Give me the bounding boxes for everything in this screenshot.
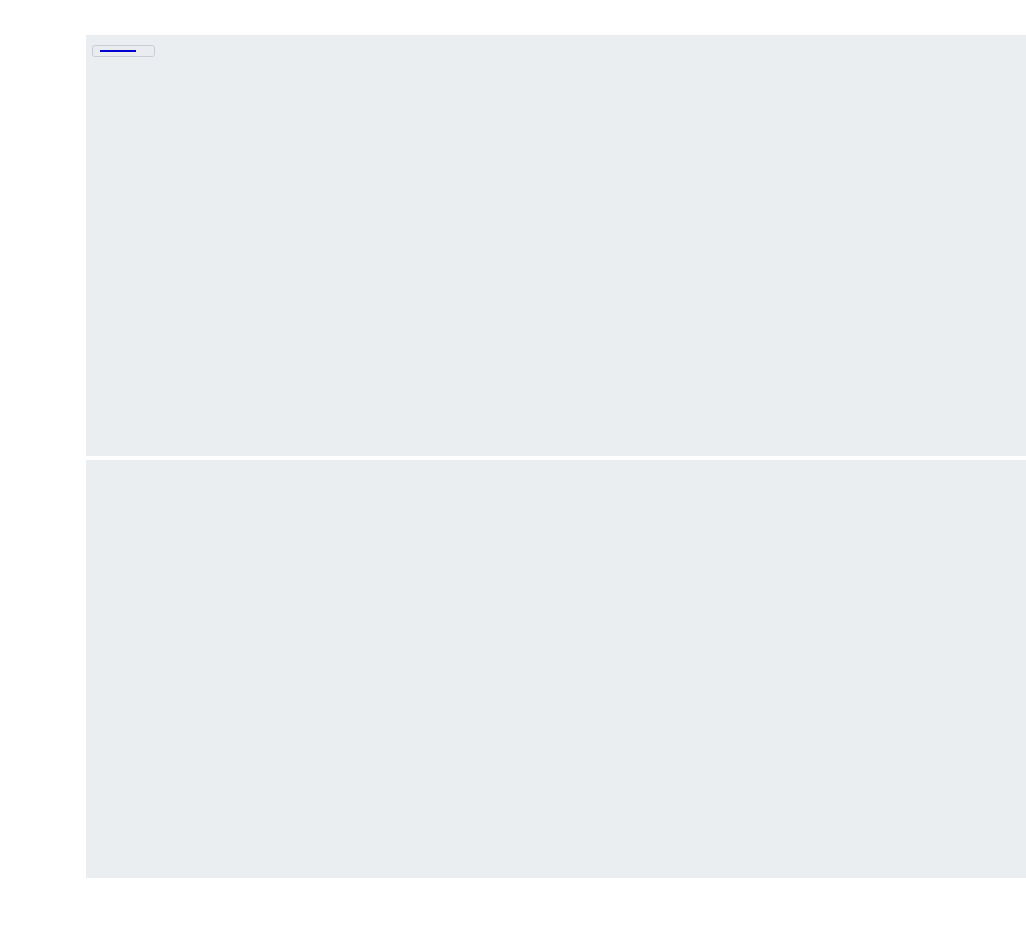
panel-absolute-change (86, 460, 1026, 878)
chart-canvas (0, 0, 1026, 942)
legend[interactable] (92, 45, 155, 57)
panel-economic-capital-ratio (86, 35, 1026, 456)
legend-line-swatch (100, 50, 136, 52)
